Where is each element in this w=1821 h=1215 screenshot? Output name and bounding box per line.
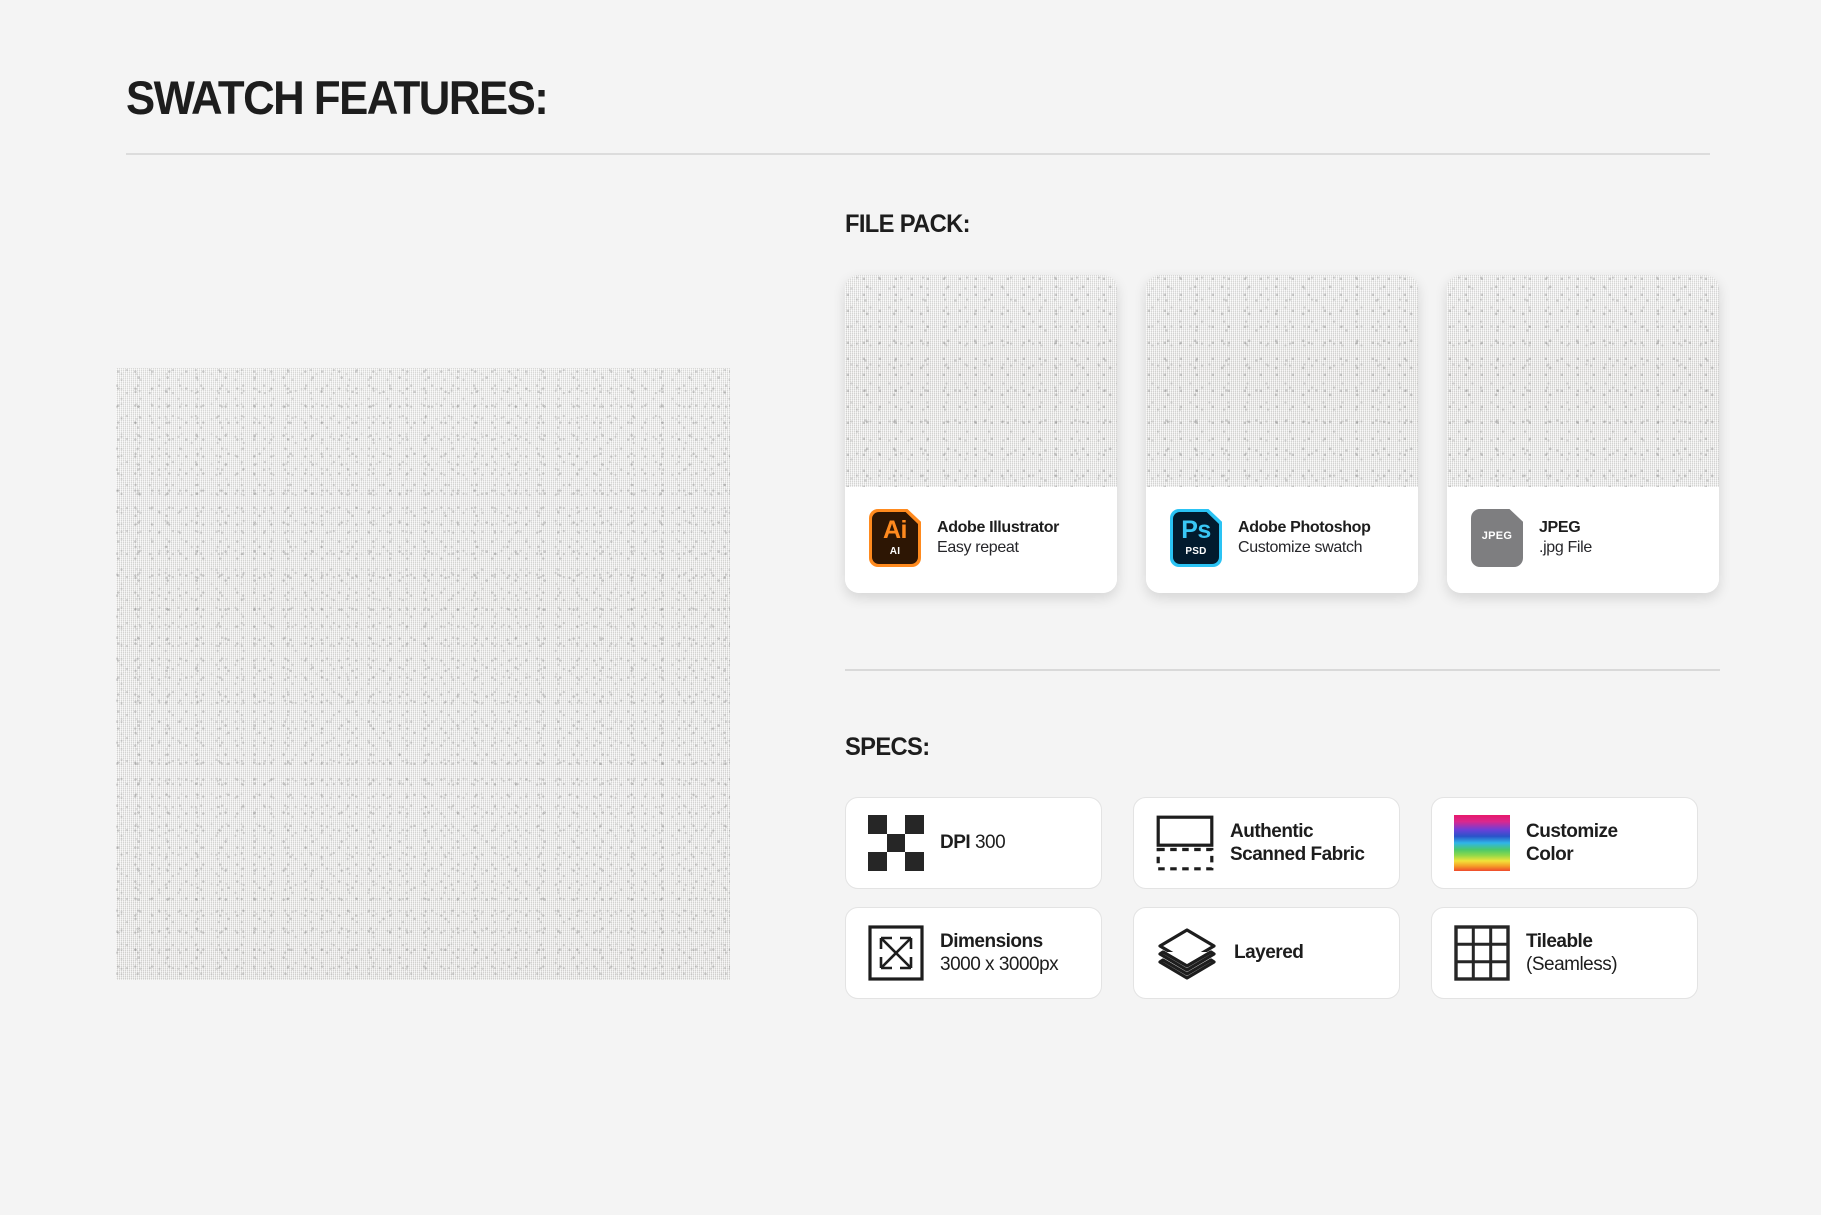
spec-label-primary: Tileable (1526, 931, 1592, 952)
header-divider (126, 153, 1710, 155)
spec-text: Layered (1234, 941, 1303, 964)
spec-text: DPI 300 (940, 831, 1005, 854)
fabric-thumbnail (1146, 275, 1418, 487)
file-card-body: Ai AI Adobe Illustrator Easy repeat (845, 487, 1117, 593)
specs-card-grid: DPI 300 Authentic Scanned Fabric (845, 797, 1720, 999)
checkerboard-icon (868, 815, 924, 871)
spec-label-primary: Layered (1234, 942, 1303, 963)
file-card-jpeg[interactable]: JPEG JPEG .jpg File (1447, 275, 1719, 593)
file-card-title: Adobe Photoshop (1238, 518, 1371, 538)
fabric-thumbnail (1447, 275, 1719, 487)
heather-grey-fabric-swatch (116, 368, 730, 980)
illustrator-icon-label: Ai (883, 519, 907, 543)
spec-card-dpi[interactable]: DPI 300 (845, 797, 1102, 889)
jpeg-file-icon: JPEG (1471, 509, 1523, 567)
scanner-icon (1156, 815, 1214, 871)
spec-label-primary: Authentic (1230, 821, 1313, 842)
spec-card-dimensions[interactable]: Dimensions 3000 x 3000px (845, 907, 1102, 999)
fabric-thumbnail (845, 275, 1117, 487)
spec-label-secondary: Scanned Fabric (1230, 843, 1365, 866)
adobe-photoshop-icon: Ps PSD (1170, 509, 1222, 567)
file-card-text: JPEG .jpg File (1539, 518, 1592, 559)
right-content-column: FILE PACK: Ai AI Adobe Illustrator Ea (845, 210, 1720, 999)
spec-text: Tileable (Seamless) (1526, 930, 1617, 976)
file-card-subtitle: .jpg File (1539, 538, 1592, 558)
spec-label-value: 300 (975, 832, 1005, 853)
file-pack-card-grid: Ai AI Adobe Illustrator Easy repeat (845, 275, 1720, 593)
page-title: SWATCH FEATURES: (126, 74, 1599, 121)
spec-label-secondary: Color (1526, 843, 1618, 866)
illustrator-icon-ext: AI (890, 546, 900, 557)
spec-label-primary: DPI (940, 832, 970, 853)
spec-label-secondary: 3000 x 3000px (940, 953, 1058, 976)
spec-label-primary: Customize (1526, 821, 1618, 842)
spec-label-secondary: (Seamless) (1526, 953, 1617, 976)
spec-card-customize-color[interactable]: Customize Color (1431, 797, 1698, 889)
file-card-text: Adobe Illustrator Easy repeat (937, 518, 1059, 559)
spec-text: Dimensions 3000 x 3000px (940, 930, 1058, 976)
color-gradient-icon (1454, 815, 1510, 871)
swatch-preview-panel (116, 368, 730, 980)
spec-card-layered[interactable]: Layered (1133, 907, 1400, 999)
spec-card-tileable[interactable]: Tileable (Seamless) (1431, 907, 1698, 999)
file-card-title: JPEG (1539, 518, 1592, 538)
file-card-illustrator[interactable]: Ai AI Adobe Illustrator Easy repeat (845, 275, 1117, 593)
photoshop-icon-ext: PSD (1185, 546, 1206, 557)
file-card-text: Adobe Photoshop Customize swatch (1238, 518, 1371, 559)
section-divider (845, 669, 1720, 671)
file-card-title: Adobe Illustrator (937, 518, 1059, 538)
photoshop-icon-label: Ps (1181, 519, 1211, 543)
grid-tile-icon (1454, 925, 1510, 981)
spec-text: Customize Color (1526, 820, 1618, 866)
spec-text: Authentic Scanned Fabric (1230, 820, 1365, 866)
jpeg-icon-ext: JPEG (1482, 530, 1513, 542)
spec-label-primary: Dimensions (940, 931, 1043, 952)
page-header: SWATCH FEATURES: (126, 74, 1710, 155)
file-card-subtitle: Customize swatch (1238, 538, 1371, 558)
adobe-illustrator-icon: Ai AI (869, 509, 921, 567)
file-card-photoshop[interactable]: Ps PSD Adobe Photoshop Customize swatch (1146, 275, 1418, 593)
file-card-body: Ps PSD Adobe Photoshop Customize swatch (1146, 487, 1418, 593)
file-card-subtitle: Easy repeat (937, 538, 1059, 558)
expand-arrows-icon (868, 925, 924, 981)
file-card-body: JPEG JPEG .jpg File (1447, 487, 1719, 593)
swatch-features-page: SWATCH FEATURES: FILE PACK: Ai AI (0, 0, 1821, 1215)
specs-heading: SPECS: (845, 733, 1676, 762)
file-pack-heading: FILE PACK: (845, 210, 1676, 239)
layers-icon (1156, 925, 1218, 981)
spec-card-authentic-scanned-fabric[interactable]: Authentic Scanned Fabric (1133, 797, 1400, 889)
